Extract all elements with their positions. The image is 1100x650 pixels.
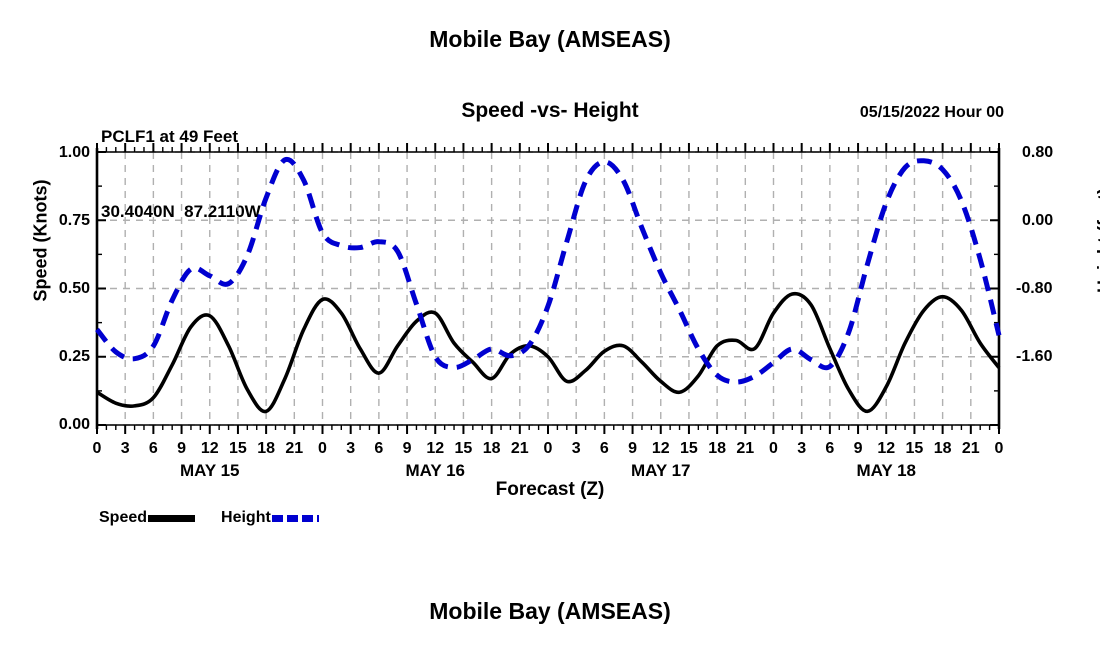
x-day-label: MAY 18 <box>816 461 956 481</box>
chart-plot-area <box>0 0 1100 650</box>
footer-title: Mobile Bay (AMSEAS) <box>0 598 1100 625</box>
legend-label-speed: Speed <box>99 509 147 527</box>
x-tick-label: 0 <box>979 440 1019 458</box>
x-day-label: MAY 16 <box>365 461 505 481</box>
legend-label-height: Height <box>221 509 271 527</box>
chart-legend: Speed Height <box>99 509 319 527</box>
legend-swatch-speed-icon <box>148 515 195 522</box>
x-day-label: MAY 15 <box>140 461 280 481</box>
legend-item-height: Height <box>221 509 319 527</box>
legend-item-speed: Speed <box>99 509 195 527</box>
legend-swatch-height-icon <box>272 515 319 522</box>
x-day-label: MAY 17 <box>591 461 731 481</box>
chart-page: Mobile Bay (AMSEAS) PCLF1 at 49 Feet 30.… <box>0 0 1100 650</box>
